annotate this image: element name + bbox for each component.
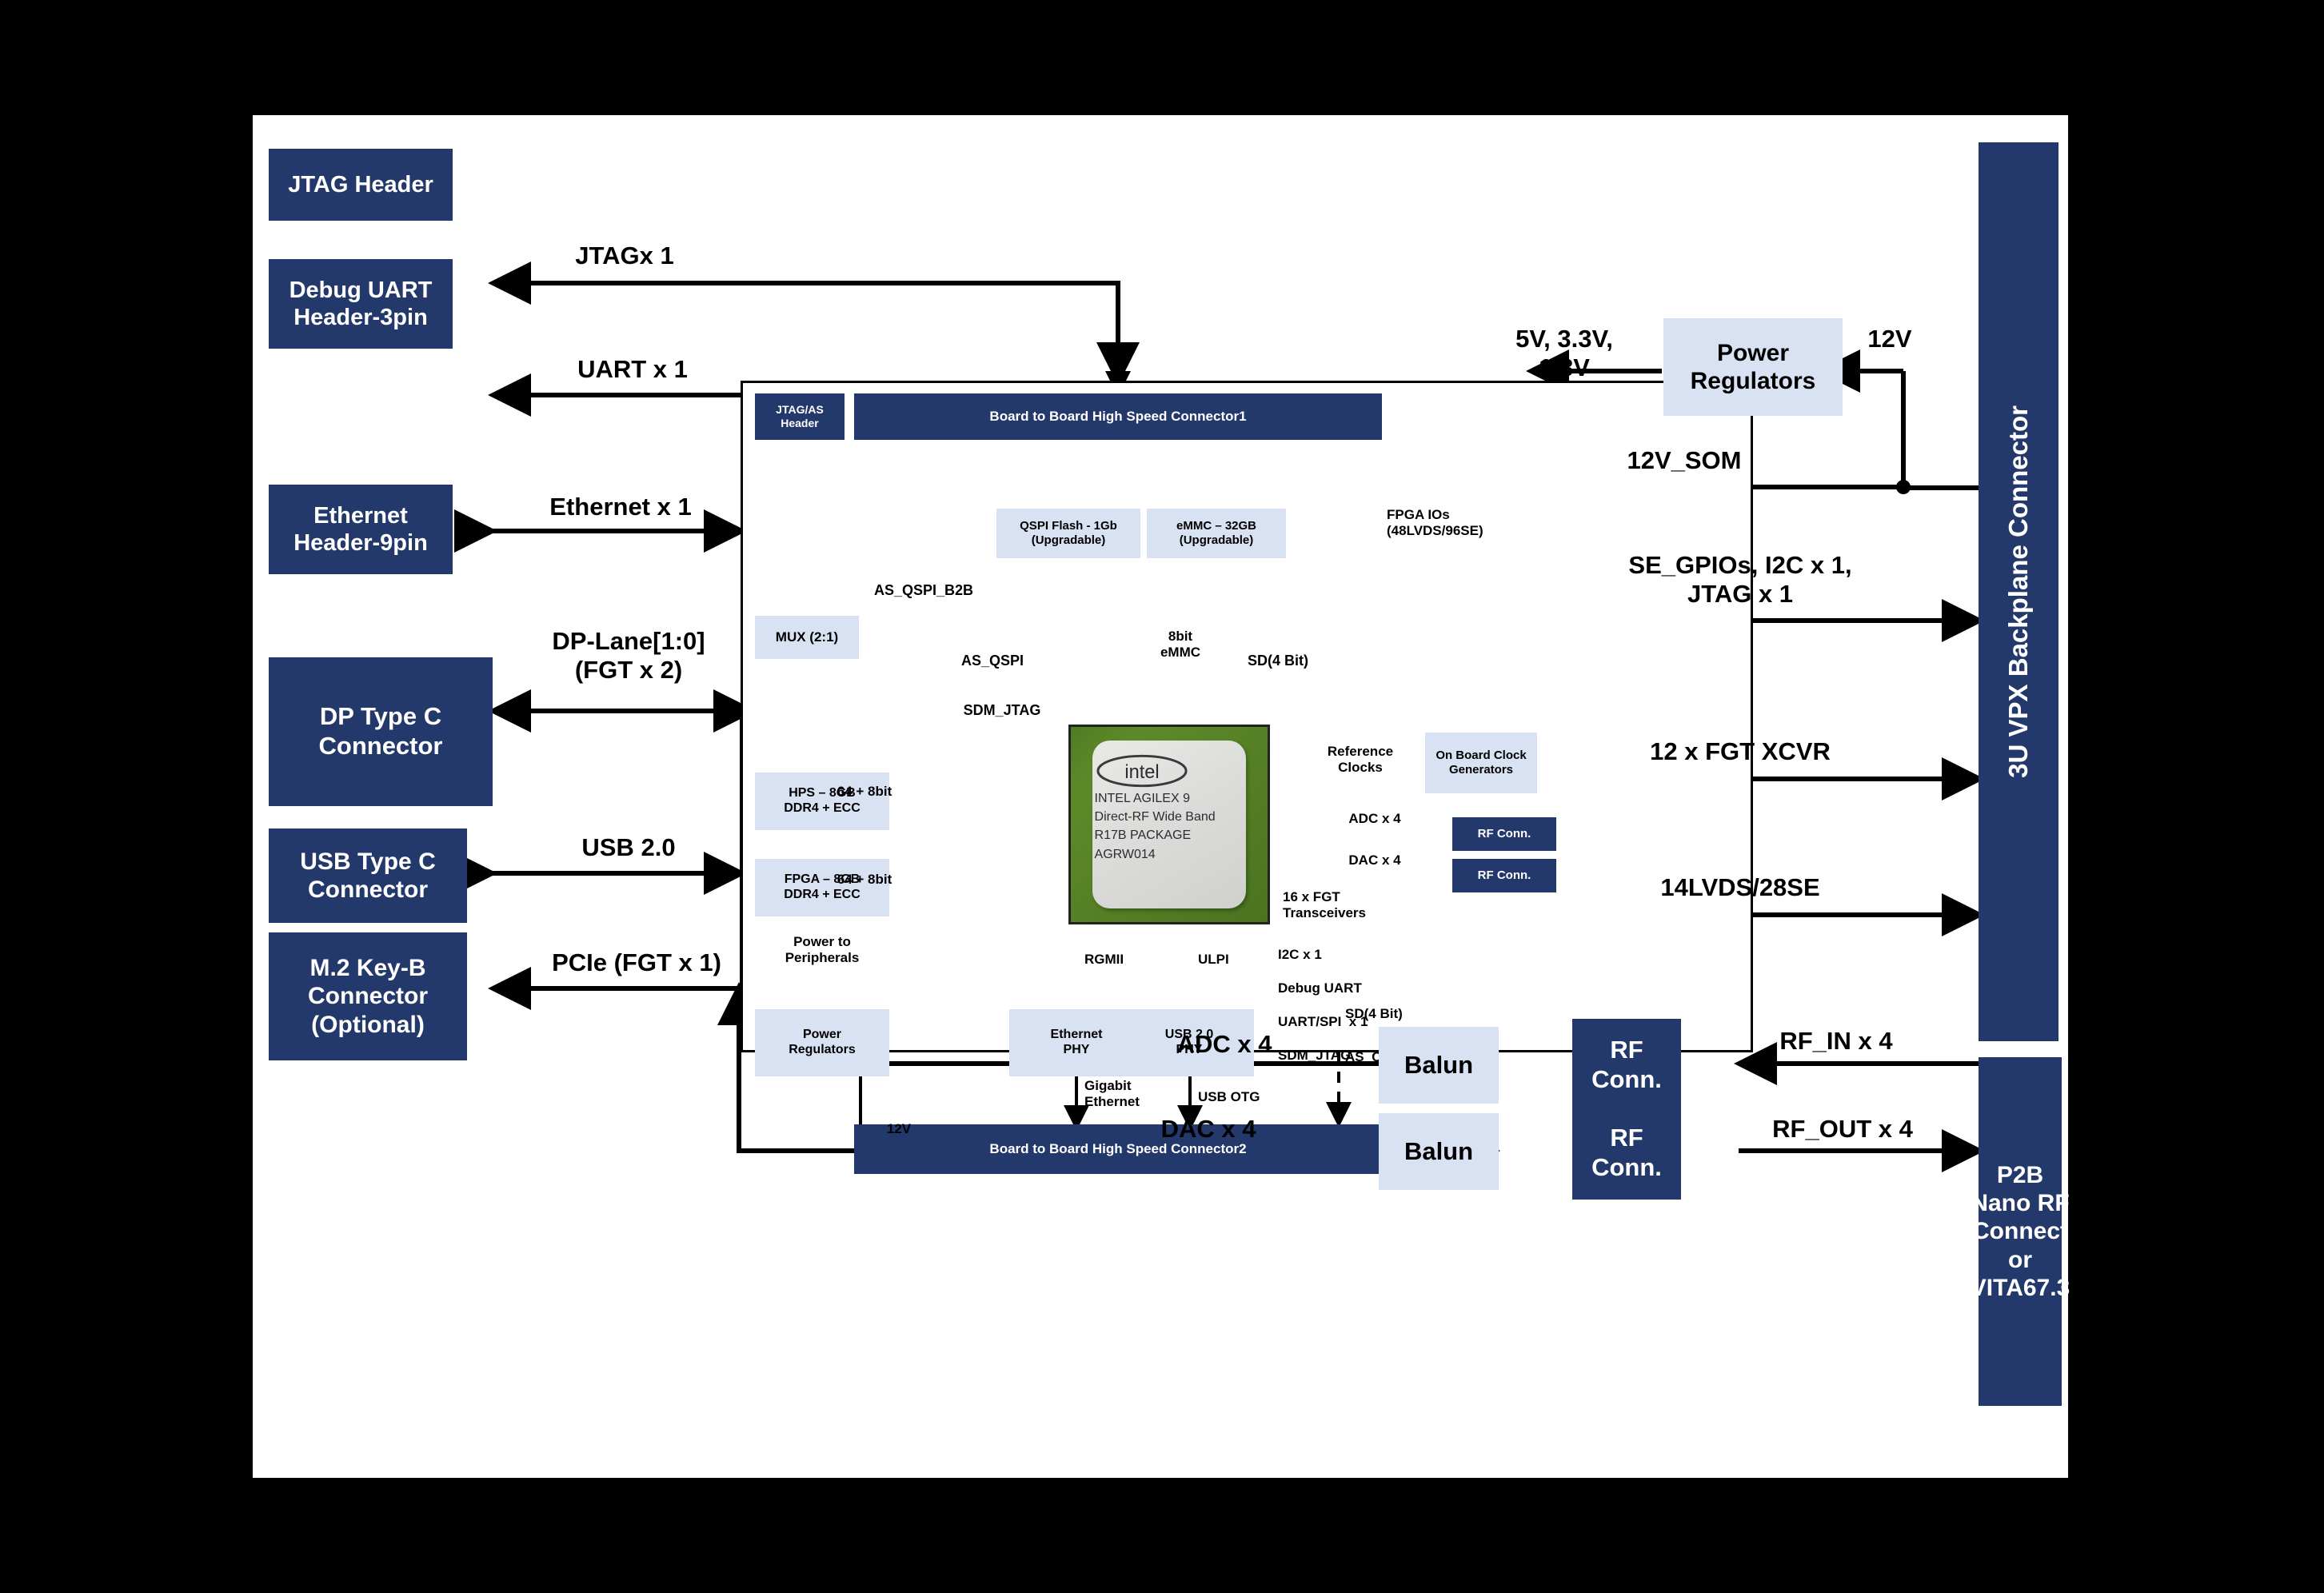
label-fgt-transceivers: 16 x FGT Transceivers: [1283, 889, 1435, 920]
label-as-qspi: AS_QSPI: [932, 653, 1052, 669]
balun-adc-label: Balun: [1404, 1051, 1473, 1080]
label-sdm-jtag: SDM_JTAG: [934, 702, 1070, 719]
rf-conn-out-label: RF Conn.: [1591, 1124, 1662, 1182]
label-fpga-ios: FPGA IOs (48LVDS/96SE): [1387, 507, 1555, 538]
label-dac-x4-chain: DAC x 4: [1108, 1115, 1308, 1144]
debug-uart-header[interactable]: Debug UART Header-3pin: [269, 259, 453, 349]
label-8bit-emmc: 8bit eMMC: [1147, 629, 1214, 660]
mux-2to1[interactable]: MUX (2:1): [755, 616, 859, 659]
mux-label: MUX (2:1): [776, 629, 838, 645]
rail-out-label: 5V, 3.3V, 1.8V: [1460, 325, 1668, 381]
signal-fgt-xcvr: 12 x FGT XCVR: [1596, 737, 1884, 766]
rf-conn-in[interactable]: RF Conn.: [1572, 1019, 1681, 1112]
emmc-label: eMMC – 32GB (Upgradable): [1176, 519, 1256, 547]
jtag-header[interactable]: JTAG Header: [269, 149, 453, 221]
label-sd-4bit-2: SD(4 Bit): [1345, 1006, 1457, 1022]
usb-type-c-label: USB Type C Connector: [300, 848, 435, 904]
power-regulators-board[interactable]: Power Regulators: [1663, 318, 1843, 416]
module-power-regulators[interactable]: Power Regulators: [755, 1009, 889, 1076]
label-sd-4bit: SD(4 Bit): [1222, 653, 1334, 669]
rf-conn-out[interactable]: RF Conn.: [1572, 1107, 1681, 1200]
label-adc-x4-chain: ADC x 4: [1124, 1030, 1324, 1059]
diagram-canvas: JTAG Header Debug UART Header-3pin Ether…: [0, 0, 2324, 1593]
intel-logo-icon: intel: [1095, 753, 1189, 789]
label-reference-clocks: Reference Clocks: [1292, 744, 1428, 775]
signal-ethernet-x1: Ethernet x 1: [517, 493, 725, 521]
label-ddr-bus-hps: 64 + 8bit: [813, 784, 916, 800]
dp-type-c-connector[interactable]: DP Type C Connector: [269, 657, 493, 806]
vpx-backplane-connector[interactable]: 3U VPX Backplane Connector: [1979, 142, 2058, 1041]
balun-dac[interactable]: Balun: [1379, 1113, 1499, 1190]
dp-type-c-label: DP Type C Connector: [319, 702, 443, 761]
label-12v-internal: 12V: [867, 1121, 931, 1137]
m2-key-b-label: M.2 Key-B Connector (Optional): [308, 954, 428, 1039]
label-rf-in-x4: RF_IN x 4: [1724, 1027, 1948, 1056]
chip-line-1: INTEL AGILEX 9: [1095, 789, 1216, 808]
clock-generators-label: On Board Clock Generators: [1436, 749, 1526, 777]
p2b-connector-label: P2B Nano RF Connect or VITA67.3: [1971, 1161, 2070, 1303]
qspi-flash[interactable]: QSPI Flash - 1Gb (Upgradable): [996, 509, 1140, 558]
jtag-as-header-label: JTAG/AS Header: [776, 403, 824, 429]
chip-line-4: AGRW014: [1095, 845, 1216, 864]
debug-uart-header-label: Debug UART Header-3pin: [290, 277, 433, 331]
rf-conn-dac[interactable]: RF Conn.: [1452, 859, 1556, 892]
chip-line-3: R17B PACKAGE: [1095, 826, 1216, 844]
rf-conn-in-label: RF Conn.: [1591, 1036, 1662, 1094]
jtag-header-label: JTAG Header: [288, 171, 433, 198]
b2b-high-speed-connector-1[interactable]: Board to Board High Speed Connector1: [854, 393, 1382, 440]
module-power-regulators-label: Power Regulators: [789, 1028, 856, 1058]
fpga-ddr4[interactable]: FPGA – 8GB DDR4 + ECC: [755, 859, 889, 916]
signal-se-gpios: SE_GPIOs, I2C x 1, JTAG x 1: [1580, 551, 1900, 608]
ethernet-header-label: Ethernet Header-9pin: [293, 502, 428, 557]
label-usb-otg: USB OTG: [1198, 1089, 1294, 1105]
rail-in-label: 12V: [1846, 325, 1934, 353]
qspi-flash-label: QSPI Flash - 1Gb (Upgradable): [1020, 519, 1117, 547]
ethernet-phy-label: Ethernet PHY: [1051, 1028, 1103, 1058]
b2b2-label: Board to Board High Speed Connector2: [989, 1141, 1246, 1157]
label-rgmii: RGMII: [1084, 952, 1172, 968]
chip-marking: INTEL AGILEX 9 Direct-RF Wide Band R17B …: [1095, 789, 1216, 864]
usb-type-c-connector[interactable]: USB Type C Connector: [269, 828, 467, 923]
label-gigabit-ethernet: Gigabit Ethernet: [1084, 1078, 1188, 1109]
p2b-nano-rf-connector[interactable]: P2B Nano RF Connect or VITA67.3: [1979, 1057, 2062, 1406]
vpx-connector-label: 3U VPX Backplane Connector: [2003, 405, 2034, 778]
intel-agilex-chip[interactable]: intel INTEL AGILEX 9 Direct-RF Wide Band…: [1068, 725, 1270, 924]
m2-key-b-connector[interactable]: M.2 Key-B Connector (Optional): [269, 932, 467, 1060]
emmc[interactable]: eMMC – 32GB (Upgradable): [1147, 509, 1286, 558]
rf-conn-adc[interactable]: RF Conn.: [1452, 817, 1556, 851]
chip-line-2: Direct-RF Wide Band: [1095, 808, 1216, 826]
rf-conn-adc-label: RF Conn.: [1478, 827, 1531, 841]
ethernet-phy[interactable]: Ethernet PHY: [1009, 1009, 1144, 1076]
label-adc-x4-internal: ADC x 4: [1307, 811, 1443, 827]
balun-adc[interactable]: Balun: [1379, 1027, 1499, 1104]
diagram-page: JTAG Header Debug UART Header-3pin Ether…: [253, 115, 2068, 1478]
balun-dac-label: Balun: [1404, 1137, 1473, 1167]
signal-dp-lane: DP-Lane[1:0] (FGT x 2): [517, 627, 741, 684]
svg-text:intel: intel: [1124, 762, 1159, 783]
signal-usb-20: USB 2.0: [533, 833, 725, 862]
signal-uart-x1: UART x 1: [541, 355, 725, 384]
ethernet-header[interactable]: Ethernet Header-9pin: [269, 485, 453, 574]
label-debug-uart: Debug UART: [1278, 980, 1406, 996]
label-as-qspi-b2b: AS_QSPI_B2B: [832, 582, 1016, 599]
jtag-as-header[interactable]: JTAG/AS Header: [755, 393, 845, 440]
label-ulpi: ULPI: [1198, 952, 1278, 968]
label-i2c-x1: I2C x 1: [1278, 947, 1390, 963]
label-power-to-peripherals: Power to Peripherals: [755, 934, 889, 965]
on-board-clock-generators[interactable]: On Board Clock Generators: [1425, 733, 1537, 793]
signal-pcie-fgt-x1: PCIe (FGT x 1): [517, 948, 757, 977]
label-rf-out-x4: RF_OUT x 4: [1723, 1115, 1963, 1144]
signal-jtag-x1: JTAGx 1: [533, 242, 717, 270]
label-ddr-bus-fpga: 64 + 8bit: [813, 872, 916, 888]
b2b1-label: Board to Board High Speed Connector1: [989, 409, 1246, 425]
label-dac-x4-internal: DAC x 4: [1307, 852, 1443, 868]
rf-conn-dac-label: RF Conn.: [1478, 868, 1531, 883]
power-regulators-board-label: Power Regulators: [1691, 339, 1816, 396]
som-rail-label: 12V_SOM: [1564, 446, 1804, 475]
hps-ddr4[interactable]: HPS – 8GB DDR4 + ECC: [755, 773, 889, 830]
signal-lvds-se: 14LVDS/28SE: [1604, 873, 1876, 902]
